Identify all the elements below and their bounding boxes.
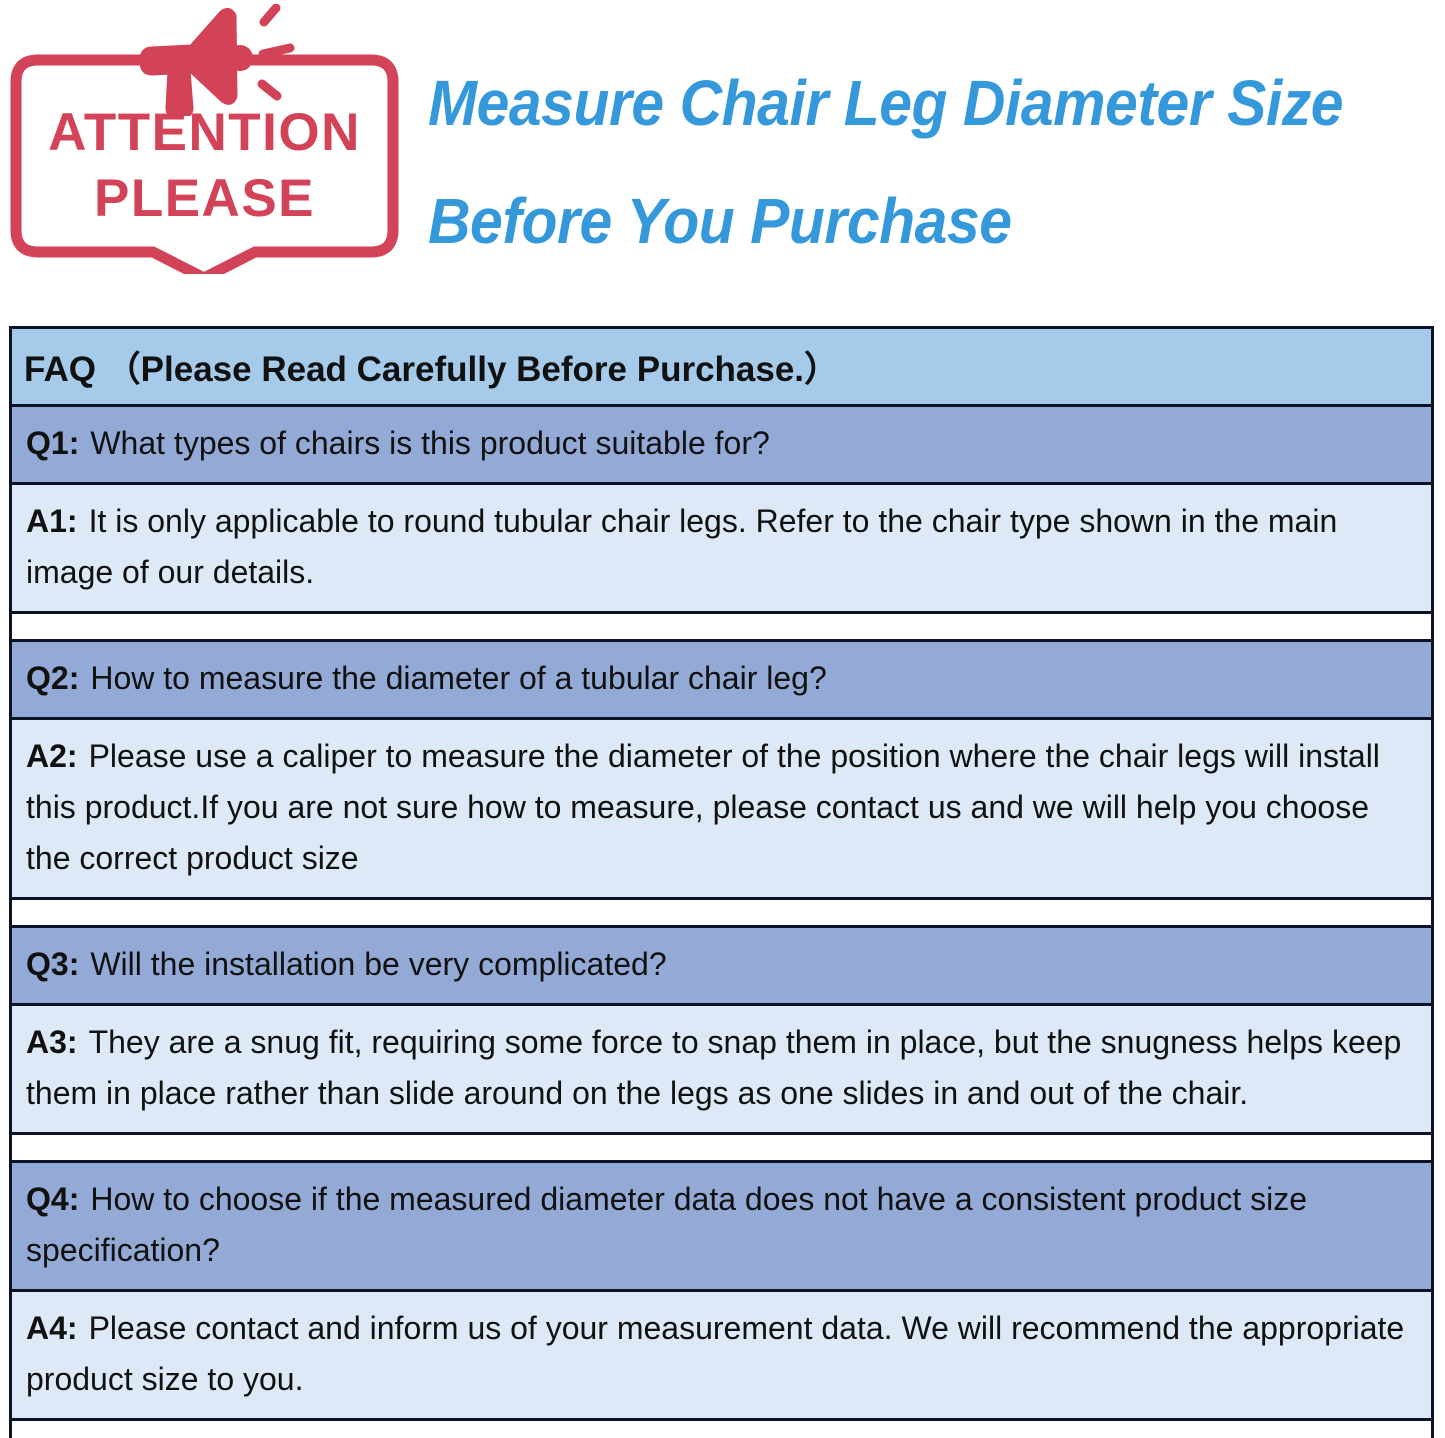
- attention-line-2: PLEASE: [8, 166, 401, 232]
- attention-line-1: ATTENTION: [8, 100, 401, 166]
- faq-heading: FAQ （Please Read Carefully Before Purcha…: [24, 341, 839, 392]
- faq-question-cell: Q4:How to choose if the measured diamete…: [24, 1163, 1419, 1289]
- faq-question-label: Q1:: [26, 425, 79, 461]
- faq-question-text: How to choose if the measured diameter d…: [26, 1181, 1307, 1268]
- faq-question-text: How to measure the diameter of a tubular…: [90, 660, 826, 696]
- faq-question-label: Q3:: [26, 946, 79, 982]
- faq-question-row: Q2:How to measure the diameter of a tubu…: [12, 642, 1431, 720]
- faq-question-text: What types of chairs is this product sui…: [90, 425, 769, 461]
- page-title: Measure Chair Leg Diameter Size Before Y…: [428, 44, 1433, 280]
- header-section: ATTENTION PLEASE Measure Chair Leg Diame…: [0, 0, 1445, 300]
- faq-answer-row: A3:They are a snug fit, requiring some f…: [12, 1006, 1431, 1135]
- faq-answer-cell: A1:It is only applicable to round tubula…: [24, 485, 1419, 611]
- product-faq-infographic: ATTENTION PLEASE Measure Chair Leg Diame…: [0, 0, 1445, 1438]
- faq-table-header: FAQ （Please Read Carefully Before Purcha…: [12, 329, 1431, 407]
- faq-answer-cell: A2:Please use a caliper to measure the d…: [24, 720, 1419, 897]
- faq-question-label: Q2:: [26, 660, 79, 696]
- faq-spacer-row: [12, 614, 1431, 642]
- faq-answer-label: A3:: [26, 1024, 78, 1060]
- faq-answer-text: Please contact and inform us of your mea…: [26, 1310, 1404, 1397]
- faq-answer-cell: A4:Please contact and inform us of your …: [24, 1292, 1419, 1418]
- faq-question-row: Q1:What types of chairs is this product …: [12, 407, 1431, 485]
- faq-answer-row: A2:Please use a caliper to measure the d…: [12, 720, 1431, 900]
- faq-answer-row: A4:Please contact and inform us of your …: [12, 1292, 1431, 1421]
- attention-badge: ATTENTION PLEASE: [8, 52, 401, 274]
- faq-question-row: Q4:How to choose if the measured diamete…: [12, 1163, 1431, 1292]
- faq-question-cell: Q3:Will the installation be very complic…: [24, 928, 1419, 1003]
- faq-question-row: Q3:Will the installation be very complic…: [12, 928, 1431, 1006]
- faq-answer-label: A2:: [26, 738, 78, 774]
- page-title-line-1: Measure Chair Leg Diameter Size: [428, 44, 1353, 162]
- faq-answer-text: They are a snug fit, requiring some forc…: [26, 1024, 1401, 1111]
- faq-spacer-row: [12, 1135, 1431, 1163]
- faq-table: FAQ （Please Read Carefully Before Purcha…: [9, 326, 1434, 1438]
- attention-badge-text: ATTENTION PLEASE: [8, 100, 401, 232]
- page-title-line-2: Before You Purchase: [428, 162, 1353, 280]
- faq-answer-text: Please use a caliper to measure the diam…: [26, 738, 1380, 876]
- faq-question-cell: Q2:How to measure the diameter of a tubu…: [24, 642, 1419, 717]
- faq-answer-row: A1:It is only applicable to round tubula…: [12, 485, 1431, 614]
- faq-answer-label: A1:: [26, 503, 78, 539]
- faq-question-label: Q4:: [26, 1181, 79, 1217]
- faq-spacer-row: [12, 900, 1431, 928]
- faq-question-text: Will the installation be very complicate…: [90, 946, 666, 982]
- faq-answer-text: It is only applicable to round tubular c…: [26, 503, 1337, 590]
- faq-answer-cell: A3:They are a snug fit, requiring some f…: [24, 1006, 1419, 1132]
- faq-question-cell: Q1:What types of chairs is this product …: [24, 407, 1419, 482]
- faq-answer-label: A4:: [26, 1310, 78, 1346]
